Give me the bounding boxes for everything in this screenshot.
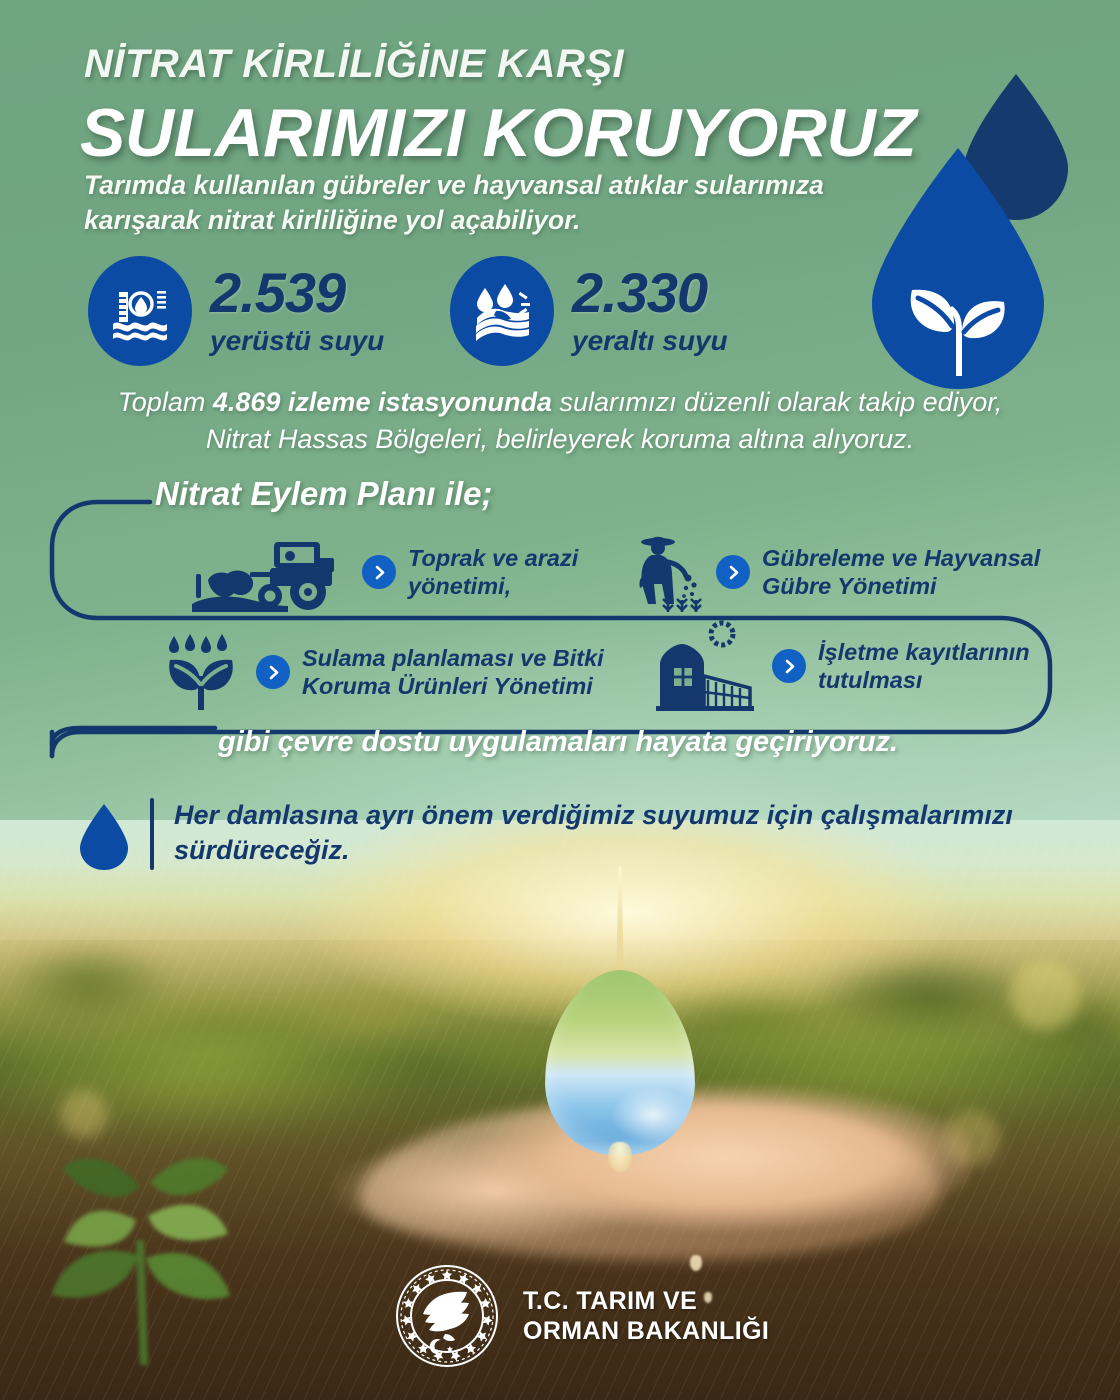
plan-item-label: Gübreleme ve Hayvansal Gübre Yönetimi bbox=[762, 544, 1058, 600]
drops-plant-icon bbox=[160, 632, 244, 712]
chevron-right-icon bbox=[256, 655, 290, 689]
barn-icon bbox=[650, 620, 760, 712]
tractor-icon bbox=[190, 530, 350, 614]
paragraph-post: sularımızı düzenli olarak takip ediyor, bbox=[552, 387, 1002, 417]
paragraph-highlight: 4.869 izleme istasyonunda bbox=[213, 387, 552, 417]
blue-drop-icon bbox=[80, 804, 128, 870]
plan-item-label: İşletme kayıtlarının tutulması bbox=[818, 638, 1050, 694]
vertical-divider bbox=[150, 798, 154, 870]
ministry-seal-icon bbox=[393, 1262, 501, 1370]
drops-soil-layers-icon bbox=[469, 278, 535, 344]
chevron-right-icon bbox=[362, 555, 396, 589]
ministry-line-1: T.C. TARIM VE bbox=[523, 1286, 769, 1317]
sub-headline: Tarımda kullanılan gübreler ve hayvansal… bbox=[84, 168, 884, 238]
monitoring-paragraph: Toplam 4.869 izleme istasyonunda sularım… bbox=[0, 384, 1120, 457]
farmer-fertilizing-icon bbox=[628, 530, 704, 614]
plan-item-label: Toprak ve arazi yönetimi, bbox=[408, 544, 590, 600]
seedling-photo-foreground bbox=[0, 1090, 320, 1370]
droplet-tip bbox=[608, 1142, 632, 1172]
plan-footer-text: gibi çevre dostu uygulamaları hayata geç… bbox=[218, 726, 898, 759]
ministry-name: T.C. TARIM VE ORMAN BAKANLIĞI bbox=[523, 1286, 769, 1347]
irrigation-plant-icon bbox=[160, 632, 244, 712]
farmer-icon bbox=[628, 530, 704, 614]
plan-item-4: İşletme kayıtlarının tutulması bbox=[650, 620, 1050, 712]
gauge-drop-waves-icon bbox=[107, 278, 173, 344]
note-pre: Her bbox=[174, 800, 227, 830]
plan-item-2: Gübreleme ve Hayvansal Gübre Yönetimi bbox=[628, 530, 1058, 614]
note-highlight: damlasına bbox=[227, 800, 359, 830]
ministry-line-2: ORMAN BAKANLIĞI bbox=[523, 1316, 769, 1347]
tractor-plough-icon bbox=[190, 530, 350, 614]
seedling-icon bbox=[898, 280, 1018, 376]
closing-note-text: Her damlasına ayrı önem verdiğimiz suyum… bbox=[174, 798, 1074, 868]
chevron-right-icon bbox=[772, 649, 806, 683]
closing-note: Her damlasına ayrı önem verdiğimiz suyum… bbox=[80, 798, 1074, 870]
stat-label: yerüstü suyu bbox=[210, 326, 384, 357]
infographic-poster: NİTRAT KİRLİLİĞİNE KARŞI SULARIMIZI KORU… bbox=[0, 0, 1120, 1400]
main-headline: SULARIMIZI KORUYORUZ bbox=[80, 94, 916, 172]
stat-surface-water: 2.539 yerüstü suyu bbox=[88, 256, 384, 366]
stat-value: 2.330 bbox=[572, 266, 728, 321]
water-droplet-photo bbox=[545, 866, 695, 1156]
kicker-title: NİTRAT KİRLİLİĞİNE KARŞI bbox=[84, 42, 624, 87]
plan-item-3: Sulama planlaması ve Bitki Koruma Ürünle… bbox=[160, 632, 640, 712]
plan-title: Nitrat Eylem Planı ile; bbox=[155, 475, 492, 513]
chevron-right-icon bbox=[716, 555, 750, 589]
paragraph-line2: Nitrat Hassas Bölgeleri, belirleyerek ko… bbox=[0, 421, 1120, 458]
stat-label: yeraltı suyu bbox=[572, 326, 728, 357]
ministry-logo-block: T.C. TARIM VE ORMAN BAKANLIĞI bbox=[393, 1262, 769, 1370]
groundwater-layers-icon bbox=[450, 256, 554, 366]
stat-groundwater: 2.330 yeraltı suyu bbox=[450, 256, 728, 366]
plan-item-label: Sulama planlaması ve Bitki Koruma Ürünle… bbox=[302, 644, 640, 700]
water-drop-seedling-logo bbox=[872, 148, 1044, 389]
plan-item-1: Toprak ve arazi yönetimi, bbox=[190, 530, 590, 614]
stat-value: 2.539 bbox=[210, 266, 384, 321]
paragraph-pre: Toplam bbox=[118, 387, 213, 417]
barn-farm-icon bbox=[650, 620, 760, 712]
surface-water-gauge-icon bbox=[88, 256, 192, 366]
droplet-body bbox=[545, 970, 695, 1156]
bokeh-light bbox=[1010, 960, 1080, 1030]
